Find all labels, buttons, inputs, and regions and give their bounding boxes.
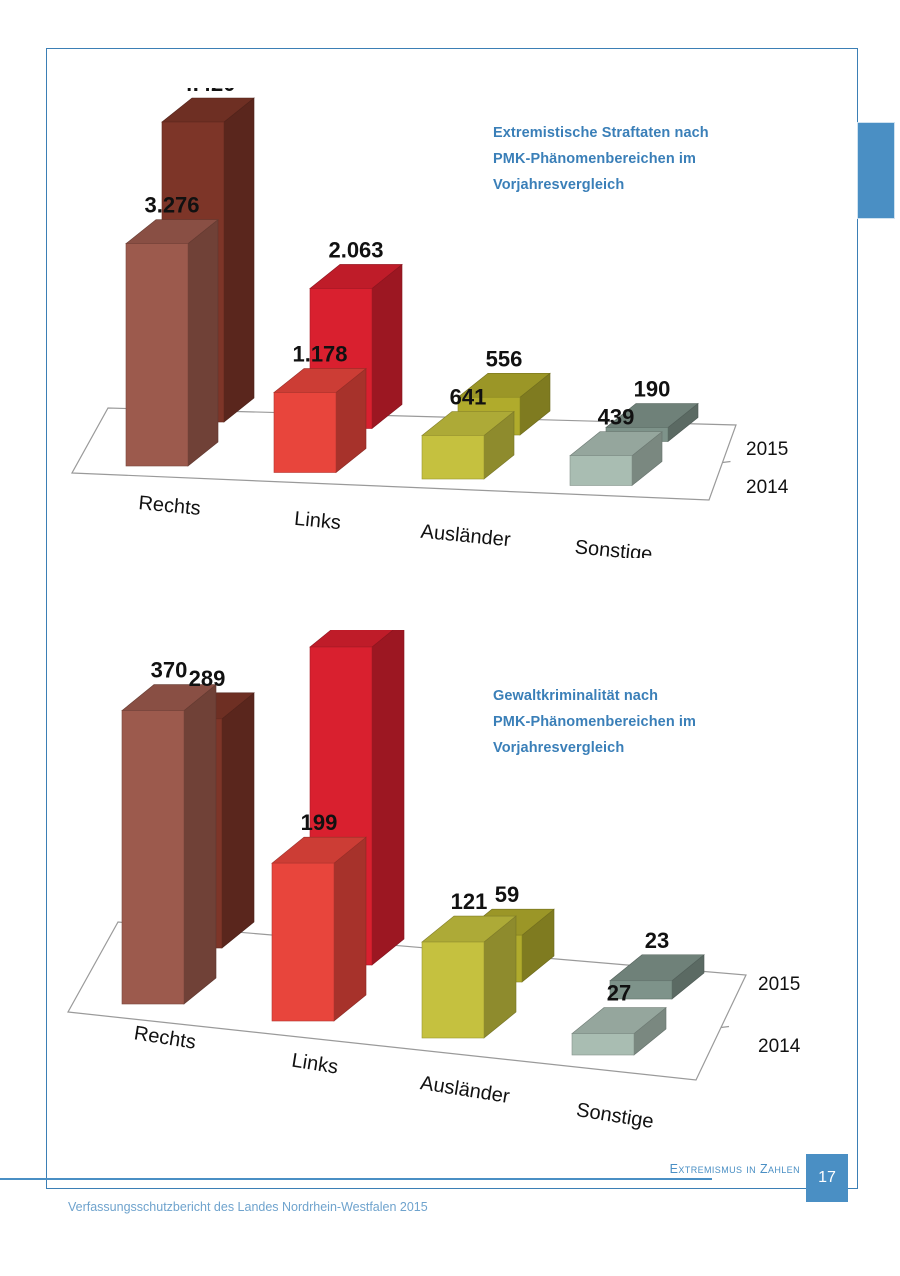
depth-axis-label-2014: 2014 [758,1036,801,1057]
category-label-rechts: Rechts [138,492,202,520]
bar-ausländer-2014 [422,916,516,1038]
chart-gewaltkriminalitaet: 235940128927121199370 RechtsLinksAusländ… [46,630,836,1130]
value-label-sonstige-2015: 190 [634,377,671,402]
category-label-rechts: Rechts [132,1022,197,1053]
category-label-sonstige: Sonstige [574,536,654,558]
value-label-sonstige-2015: 23 [645,928,669,953]
chart-2-year-labels: 20152014 [758,974,801,1057]
value-label-sonstige-2014: 27 [607,981,631,1006]
category-label-sonstige: Sonstige [575,1099,655,1130]
category-label-ausländer: Ausländer [420,521,512,552]
value-label-rechts-2015: 289 [189,666,226,691]
report-page: Extremistische Straftaten nach PMK-Phäno… [0,0,900,1276]
depth-axis-label-2015: 2015 [746,439,788,460]
depth-axis-label-2014: 2014 [746,477,789,498]
value-label-ausländer-2014: 641 [450,384,487,409]
value-label-ausländer-2015: 59 [495,882,519,907]
page-number-badge: 17 [806,1154,848,1202]
value-label-sonstige-2014: 439 [598,405,635,430]
blue-accent-block [857,122,895,219]
value-label-links-2015: 2.063 [328,237,383,262]
value-label-links-2014: 199 [301,810,338,835]
footer-chapter-label: Extremismus in Zahlen [640,1162,800,1176]
value-label-ausländer-2014: 121 [451,889,488,914]
category-label-ausländer: Ausländer [419,1072,512,1108]
chart-1-category-labels: RechtsLinksAusländerSonstige [138,492,654,558]
chart-extremistische-straftaten: 1905562.0634.4204396411.1783.276 RechtsL… [46,88,836,558]
depth-axis-tick [723,462,731,463]
value-label-rechts-2015: 4.420 [180,88,235,96]
depth-axis-label-2015: 2015 [758,974,800,995]
category-label-links: Links [290,1050,340,1079]
value-label-rechts-2014: 370 [151,658,188,683]
document-caption: Verfassungsschutzbericht des Landes Nord… [68,1200,428,1214]
category-label-links: Links [293,508,342,534]
value-label-ausländer-2015: 556 [486,346,523,371]
chart-1-year-labels: 20152014 [746,439,789,498]
footer-rule [0,1178,712,1180]
bar-links-2014 [272,837,366,1021]
bar-rechts-2014 [126,220,218,466]
bar-rechts-2014 [122,685,216,1004]
depth-axis-tick [721,1027,729,1028]
bar-links-2014 [274,369,366,473]
value-label-links-2014: 1.178 [292,342,347,367]
value-label-rechts-2014: 3.276 [144,193,199,218]
